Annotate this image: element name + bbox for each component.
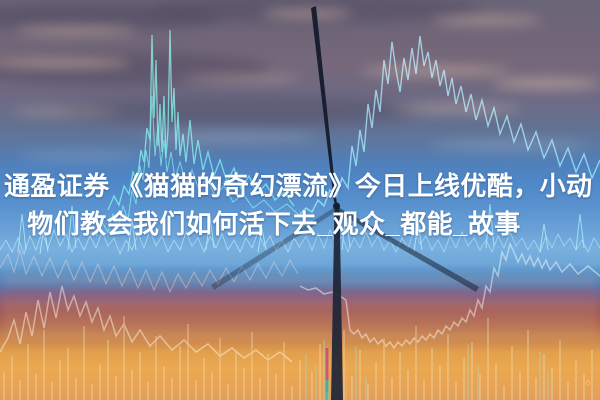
caption-overlay: 通盈证券 《猫猫的奇幻漂流》今日上线优酷，小动 物们教会我们如何活下去_观众_都…: [0, 163, 600, 247]
watermark: ◊: [586, 378, 590, 388]
caption-line-1: 通盈证券 《猫猫的奇幻漂流》今日上线优酷，小动: [0, 167, 600, 205]
article-header-image: 通盈证券 《猫猫的奇幻漂流》今日上线优酷，小动 物们教会我们如何活下去_观众_都…: [0, 0, 600, 400]
caption-line-2: 物们教会我们如何活下去_观众_都能_故事: [0, 205, 600, 243]
